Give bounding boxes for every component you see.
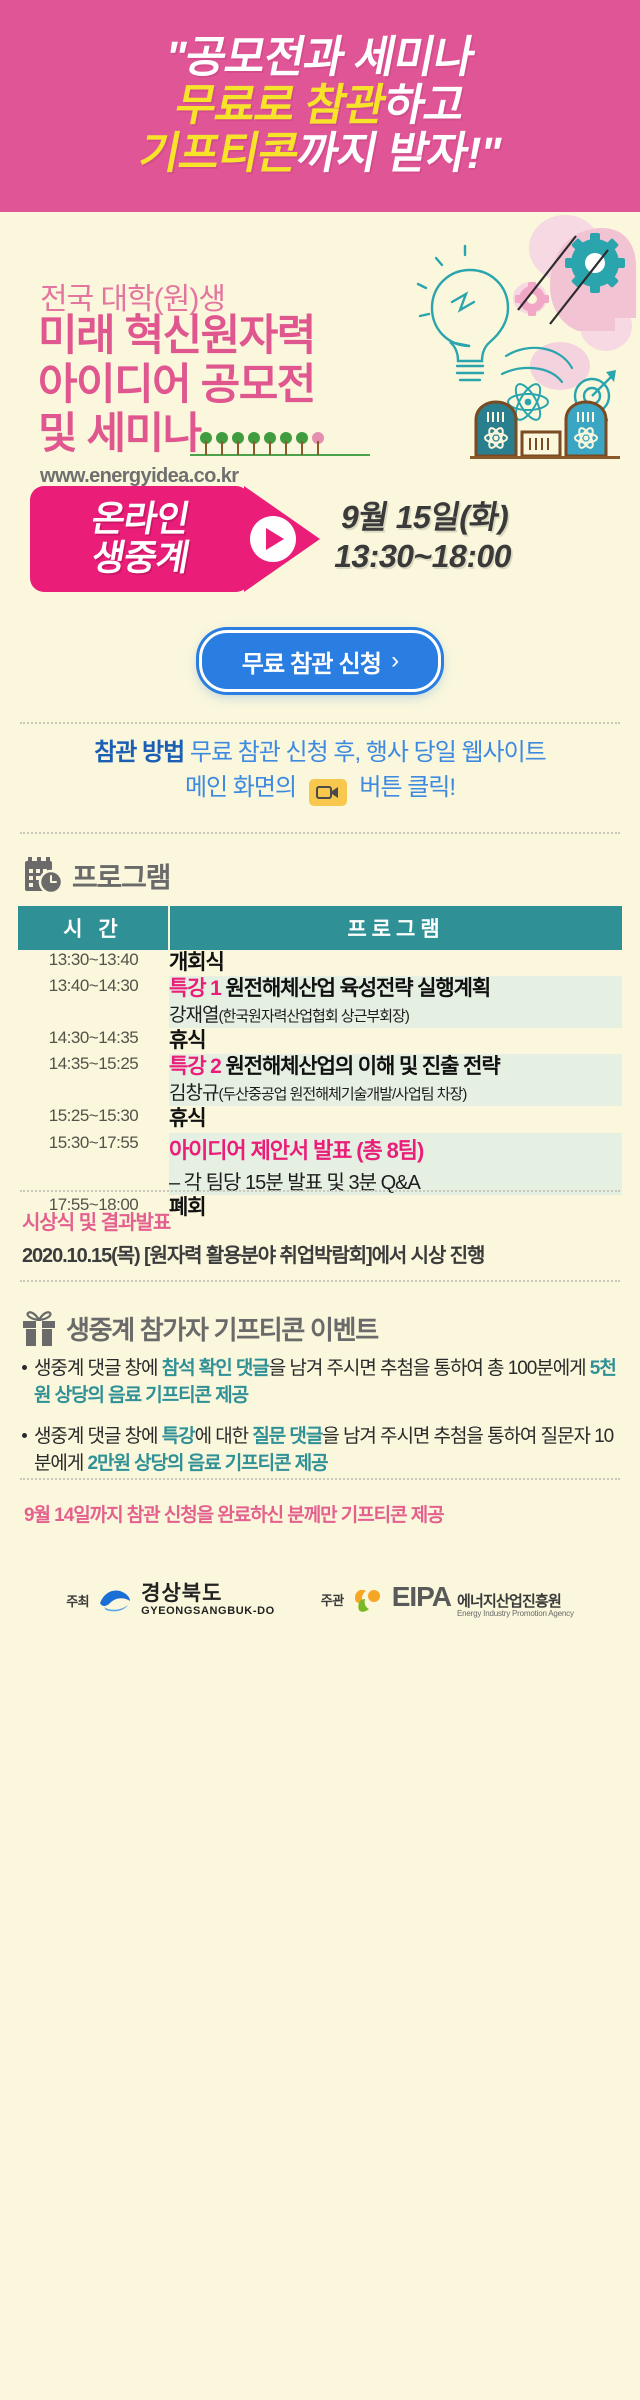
- organizer-name: EIPA 에너지산업진흥원 Energy Industry Promotion …: [392, 1581, 574, 1618]
- calendar-clock-icon: [24, 857, 64, 895]
- row-title: 휴식: [169, 1028, 622, 1054]
- howto-text-after: 버튼 클릭!: [359, 774, 455, 801]
- live-date: 9월 15일(화): [338, 498, 522, 537]
- gift-section-header: 생중계 참가자 기프티콘 이벤트: [22, 1310, 378, 1347]
- gift-section-title: 생중계 참가자 기프티콘 이벤트: [66, 1310, 378, 1347]
- row-time: 13:30~13:40: [18, 950, 169, 976]
- gift-item-2-em3: 2만원 상당의 음료 기프티콘 제공: [88, 1453, 328, 1474]
- apply-button-label: 무료 참관 신청: [242, 644, 381, 679]
- gift-item-1-em1: 참석 확인 댓글: [162, 1358, 269, 1379]
- host-logo-group: 주최 경상북도 GYEONGSANGBUK-DO: [66, 1583, 275, 1617]
- gift-icon: [22, 1311, 56, 1347]
- host-name: 경상북도 GYEONGSANGBUK-DO: [141, 1583, 275, 1617]
- organizer-name-en: Energy Industry Promotion Agency: [457, 1610, 574, 1618]
- table-row: 13:30~13:40 개회식: [18, 950, 622, 976]
- row-speaker-wrap: 강재열(한국원자력산업협회 상근부회장): [169, 1004, 622, 1029]
- hero-line-3: 기프티콘까지 받자!": [135, 131, 504, 177]
- host-role-label: 주최: [66, 1591, 89, 1610]
- row-title-wrap: 특강 1 원전해체산업 육성전략 실행계획: [169, 976, 622, 1002]
- row-time: 15:30~17:55: [18, 1133, 169, 1195]
- table-row: 15:25~15:30 휴식: [18, 1106, 622, 1132]
- gift-item-1-p2: 을 남겨 주시면 추첨을 통하여 총 100분에게: [269, 1358, 590, 1379]
- divider-1: [20, 722, 620, 724]
- title-main-line-3: 및 세미나: [38, 410, 315, 459]
- title-main-line-1: 미래 혁신원자력: [38, 312, 315, 361]
- row-title: 휴식: [169, 1106, 622, 1132]
- apply-button-wrap: 무료 참관 신청 ›: [0, 630, 640, 716]
- video-camera-icon: [309, 779, 347, 806]
- row-program: 개회식: [169, 950, 622, 976]
- hero-line-3-yellow: 기프티콘: [135, 129, 302, 178]
- hero-banner: "공모전과 세미나 무료로 참관하고 기프티콘까지 받자!": [0, 0, 640, 212]
- participation-method: 참관 방법 무료 참관 신청 후, 행사 당일 웹사이트 메인 화면의 버튼 클…: [0, 736, 640, 806]
- live-broadcast-banner: 온라인 생중계 9월 15일(화) 13:30~18:00: [0, 480, 640, 610]
- program-table: 시 간 프로그램 13:30~13:40 개회식 13:40~14:30 특강 …: [18, 906, 622, 1221]
- gift-item-2-em2: 질문 댓글: [252, 1426, 322, 1447]
- howto-text-before: 무료 참관 신청 후, 행사 당일 웹사이트: [190, 739, 546, 766]
- divider-5: [20, 1478, 620, 1480]
- row-org: (한국원자력산업협회 상근부회장): [218, 1008, 408, 1025]
- gift-item-2-p2: 에 대한: [195, 1426, 253, 1447]
- award-body: 2020.10.15(목) [원자력 활용분야 취업박람회]에서 시상 진행: [22, 1239, 622, 1268]
- gift-item-1-p1: 생중계 댓글 창에: [34, 1358, 162, 1379]
- poster-root: "공모전과 세미나 무료로 참관하고 기프티콘까지 받자!": [0, 0, 640, 2400]
- gift-item-2-p1: 생중계 댓글 창에: [34, 1426, 162, 1447]
- row-time: 14:30~14:35: [18, 1028, 169, 1054]
- gift-list: 생중계 댓글 창에 참석 확인 댓글을 남겨 주시면 추첨을 통하여 총 100…: [22, 1356, 622, 1492]
- row-title: 아이디어 제안서 발표 (총 8팀): [169, 1133, 622, 1165]
- table-row: 15:30~17:55 아이디어 제안서 발표 (총 8팀) – 각 팀당 15…: [18, 1133, 622, 1195]
- play-icon[interactable]: [250, 516, 296, 562]
- program-section-header: 프로그램: [24, 856, 170, 896]
- live-tag-line-1: 온라인: [88, 500, 191, 539]
- howto-line-1: 참관 방법 무료 참관 신청 후, 행사 당일 웹사이트: [0, 736, 640, 771]
- gyeongsangbuk-do-logo: [98, 1587, 132, 1613]
- gift-item-2-em1: 특강: [162, 1426, 195, 1447]
- award-heading: 시상식 및 결과발표: [22, 1206, 622, 1235]
- title-block: 전국 대학(원)생 미래 혁신원자력 아이디어 공모전 및 세미나 www.en…: [0, 212, 640, 480]
- hero-line-2-white: 하고: [380, 81, 468, 130]
- list-item: 생중계 댓글 창에 참석 확인 댓글을 남겨 주시면 추첨을 통하여 총 100…: [22, 1356, 622, 1410]
- row-title-wrap: 특강 2 원전해체산업의 이해 및 진출 전략: [169, 1054, 622, 1080]
- howto-line-2: 메인 화면의 버튼 클릭!: [0, 771, 640, 806]
- row-program: 특강 1 원전해체산업 육성전략 실행계획 강재열(한국원자력산업협회 상근부회…: [169, 976, 622, 1028]
- organizer-abbr: EIPA: [392, 1581, 451, 1613]
- chevron-right-icon: ›: [391, 647, 398, 675]
- howto-label: 참관 방법: [94, 739, 184, 766]
- row-title: 개회식: [169, 950, 622, 976]
- hero-line-1: "공모전과 세미나: [162, 35, 478, 81]
- row-title: 원전해체산업 육성전략 실행계획: [226, 977, 491, 1000]
- program-table-head: 시 간 프로그램: [18, 906, 622, 950]
- live-tag-line-2: 생중계: [88, 539, 191, 578]
- divider-2: [20, 832, 620, 834]
- program-section-title: 프로그램: [72, 856, 170, 896]
- hero-line-3-white: 까지 받자!": [293, 129, 505, 178]
- row-org: (두산중공업 원전해체기술개발/사업팀 차장): [218, 1086, 466, 1103]
- title-main-line-2: 아이디어 공모전: [38, 361, 315, 410]
- row-speaker: 강재열: [169, 1005, 218, 1026]
- hero-line-1-text: "공모전과 세미나: [162, 33, 479, 82]
- program-table-body: 13:30~13:40 개회식 13:40~14:30 특강 1 원전해체산업 …: [18, 950, 622, 1221]
- footer-sponsors: 주최 경상북도 GYEONGSANGBUK-DO 주관 EIPA 에너지산업진흥…: [0, 1560, 640, 1640]
- row-time: 14:35~15:25: [18, 1054, 169, 1106]
- host-name-ko: 경상북도: [141, 1583, 275, 1604]
- organizer-role-label: 주관: [321, 1590, 344, 1609]
- row-time: 13:40~14:30: [18, 976, 169, 1028]
- row-program: 휴식: [169, 1106, 622, 1132]
- column-header-program: 프로그램: [169, 906, 622, 950]
- eipa-logo: [353, 1586, 383, 1614]
- table-row: 14:30~14:35 휴식: [18, 1028, 622, 1054]
- program-table-header-row: 시 간 프로그램: [18, 906, 622, 950]
- howto-text-mid: 메인 화면의: [185, 774, 296, 801]
- deadline-notice: 9월 14일까지 참관 신청을 완료하신 분께만 기프티콘 제공: [24, 1500, 444, 1527]
- live-tag: 온라인 생중계: [30, 486, 250, 592]
- title-main: 미래 혁신원자력 아이디어 공모전 및 세미나: [38, 312, 315, 459]
- video-camera-glyph: [316, 785, 340, 800]
- program-table-element: 시 간 프로그램 13:30~13:40 개회식 13:40~14:30 특강 …: [18, 906, 622, 1221]
- free-registration-button[interactable]: 무료 참관 신청 ›: [199, 630, 441, 692]
- row-program: 휴식: [169, 1028, 622, 1054]
- hero-line-2-yellow: 무료로 참관: [172, 81, 390, 130]
- row-title: 원전해체산업의 이해 및 진출 전략: [226, 1055, 500, 1078]
- host-name-en: GYEONGSANGBUK-DO: [141, 1606, 275, 1617]
- row-time: 15:25~15:30: [18, 1106, 169, 1132]
- table-row: 14:35~15:25 특강 2 원전해체산업의 이해 및 진출 전략 김창규(…: [18, 1054, 622, 1106]
- row-tag: 특강 1: [169, 977, 221, 1000]
- table-row: 13:40~14:30 특강 1 원전해체산업 육성전략 실행계획 강재열(한국…: [18, 976, 622, 1028]
- organizer-logo-group: 주관 EIPA 에너지산업진흥원 Energy Industry Promoti…: [321, 1581, 574, 1618]
- list-item: 생중계 댓글 창에 특강에 대한 질문 댓글을 남겨 주시면 추첨을 통하여 질…: [22, 1424, 622, 1478]
- organizer-fullname: 에너지산업진흥원 Energy Industry Promotion Agenc…: [457, 1594, 574, 1618]
- row-speaker: 김창규: [169, 1083, 218, 1104]
- hero-line-2: 무료로 참관하고: [172, 83, 468, 129]
- organizer-name-ko: 에너지산업진흥원: [457, 1594, 574, 1610]
- play-triangle-icon: [266, 528, 284, 550]
- divider-4: [20, 1280, 620, 1282]
- column-header-time: 시 간: [18, 906, 169, 950]
- live-datetime: 9월 15일(화) 13:30~18:00: [331, 498, 522, 576]
- row-program: 아이디어 제안서 발표 (총 8팀) – 각 팀당 15분 발표 및 3분 Q&…: [169, 1133, 622, 1195]
- row-program: 특강 2 원전해체산업의 이해 및 진출 전략 김창규(두산중공업 원전해체기술…: [169, 1054, 622, 1106]
- row-tag: 특강 2: [169, 1055, 221, 1078]
- divider-3: [20, 1190, 620, 1192]
- row-speaker-wrap: 김창규(두산중공업 원전해체기술개발/사업팀 차장): [169, 1082, 622, 1107]
- award-section: 시상식 및 결과발표 2020.10.15(목) [원자력 활용분야 취업박람회…: [22, 1206, 622, 1268]
- live-time: 13:30~18:00: [331, 537, 515, 576]
